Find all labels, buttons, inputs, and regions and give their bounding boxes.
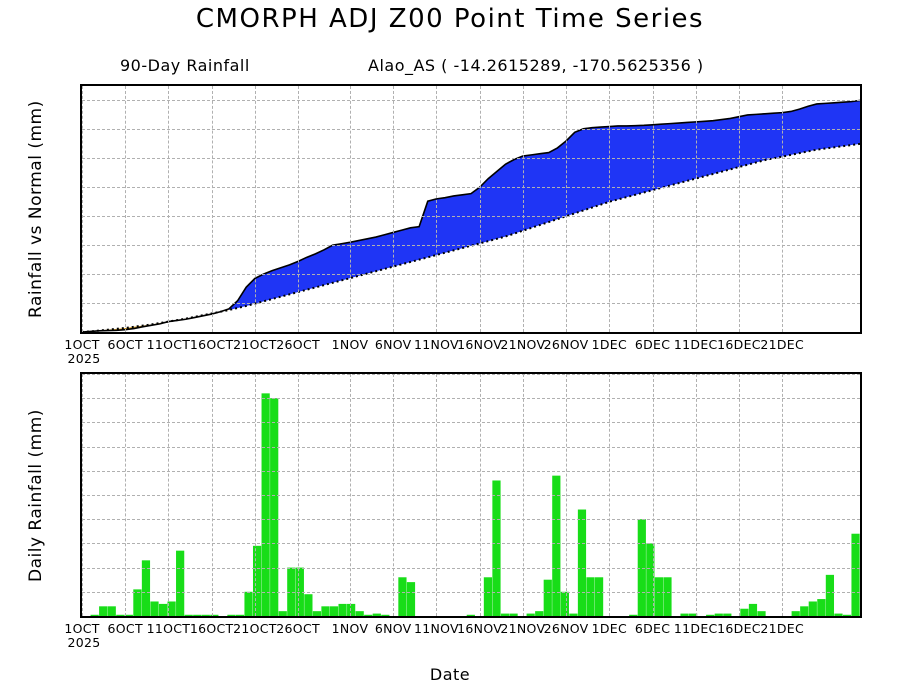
bar [509,614,517,616]
bar [347,604,355,616]
bar [227,615,235,616]
bar [262,393,270,616]
bar [834,614,842,616]
x-axis-tick-label: 11OCT [147,337,191,352]
bar [706,615,714,616]
x-axis-tick-label: 11NOV [414,621,459,636]
x-axis-tick-label: 1DEC [592,337,627,352]
bar [176,551,184,616]
bar [356,611,364,616]
bar [817,599,825,616]
bar [338,604,346,616]
bar [270,398,278,616]
x-axis-tick-label: 11NOV [414,337,459,352]
bar [407,582,415,616]
accumulation-area-chart [82,86,860,332]
bar [544,580,552,616]
bar [150,601,158,616]
bar [279,611,287,616]
bar [552,476,560,616]
bar [236,615,244,616]
bar [826,575,834,616]
bar [304,594,312,616]
bar [202,615,210,616]
x-axis-tick-label: 6OCT [108,337,143,352]
x-axis-tick-label: 6NOV [375,621,412,636]
bar [244,592,252,616]
bar [595,577,603,616]
bar [501,614,509,616]
bar [116,615,124,616]
bar [313,611,321,616]
bottom-y-axis-title: Daily Rainfall (mm) [26,409,46,582]
bar [91,615,99,616]
bar [193,615,201,616]
bar [638,519,646,616]
bar [185,615,193,616]
bar [723,614,731,616]
bar [296,568,304,616]
bar [330,606,338,616]
bar [381,615,389,616]
bar [108,606,116,616]
bar [757,611,765,616]
x-axis-tick-label: 21DEC [760,337,804,352]
bar [364,615,372,616]
bar [578,510,586,616]
bar [646,543,654,616]
subtitle-right: Alao_AS ( -14.2615289, -170.5625356 ) [368,56,704,75]
bar [715,614,723,616]
bar [655,577,663,616]
x-axis-tick-label: 11OCT [147,621,191,636]
bar [133,589,141,616]
bar [740,609,748,616]
x-axis-year-label: 2025 [67,635,100,650]
daily-rainfall-bar-chart [82,374,860,616]
bar [373,614,381,616]
bar [749,604,757,616]
bar [586,577,594,616]
x-axis-tick-label: 1NOV [332,337,369,352]
x-axis-tick-label: 21NOV [500,621,545,636]
bar [253,546,261,616]
x-axis-tick-label: 6DEC [635,337,670,352]
x-axis-tick-label: 1DEC [592,621,627,636]
bar [561,592,569,616]
x-axis-year-label: 2025 [67,351,100,366]
bar [680,614,688,616]
x-axis-tick-label: 21NOV [500,337,545,352]
x-axis-tick-label: 26OCT [276,337,320,352]
x-axis-tick-label: 16DEC [717,337,761,352]
bar [492,480,500,616]
x-axis-tick-label: 16NOV [457,337,502,352]
top-y-axis-title: Rainfall vs Normal (mm) [26,100,46,318]
x-axis-tick-label: 16NOV [457,621,502,636]
x-axis-tick-label: 21DEC [760,621,804,636]
bar [287,568,295,616]
x-axis-tick-label: 6DEC [635,621,670,636]
bar [398,577,406,616]
x-axis-tick-label: 1OCT [64,337,99,352]
bar [467,615,475,616]
bar [321,606,329,616]
x-axis-tick-label: 16DEC [717,621,761,636]
x-axis-tick-label: 16OCT [190,337,234,352]
bar [484,577,492,616]
bar [569,614,577,616]
accumulation-plot-area [80,84,862,334]
x-axis-tick-label: 1OCT [64,621,99,636]
bar [809,601,817,616]
bar [99,606,107,616]
x-axis-tick-label: 1NOV [332,621,369,636]
bar [159,604,167,616]
x-axis-tick-label: 21OCT [233,621,277,636]
x-axis-tick-label: 6NOV [375,337,412,352]
bar [629,615,637,616]
bar [800,606,808,616]
subtitle-row: 90-Day Rainfall Alao_AS ( -14.2615289, -… [110,56,850,78]
bar [125,615,133,616]
bar [851,534,859,616]
bar [792,611,800,616]
x-axis-tick-label: 26OCT [276,621,320,636]
x-axis-tick-label: 11DEC [674,621,718,636]
bar [210,615,218,616]
x-axis-title: Date [0,665,900,684]
bar [535,611,543,616]
x-axis-tick-label: 6OCT [108,621,143,636]
x-axis-tick-label: 11DEC [674,337,718,352]
bar [527,614,535,616]
x-axis-tick-label: 21OCT [233,337,277,352]
bar [142,560,150,616]
x-axis-tick-label: 26NOV [544,337,589,352]
bar [663,577,671,616]
x-axis-tick-label: 16OCT [190,621,234,636]
daily-plot-area [80,372,862,618]
bar [843,615,851,616]
x-axis-tick-label: 26NOV [544,621,589,636]
bar [167,601,175,616]
bar [689,614,697,616]
page-title: CMORPH ADJ Z00 Point Time Series [0,4,900,34]
subtitle-left: 90-Day Rainfall [120,56,250,75]
